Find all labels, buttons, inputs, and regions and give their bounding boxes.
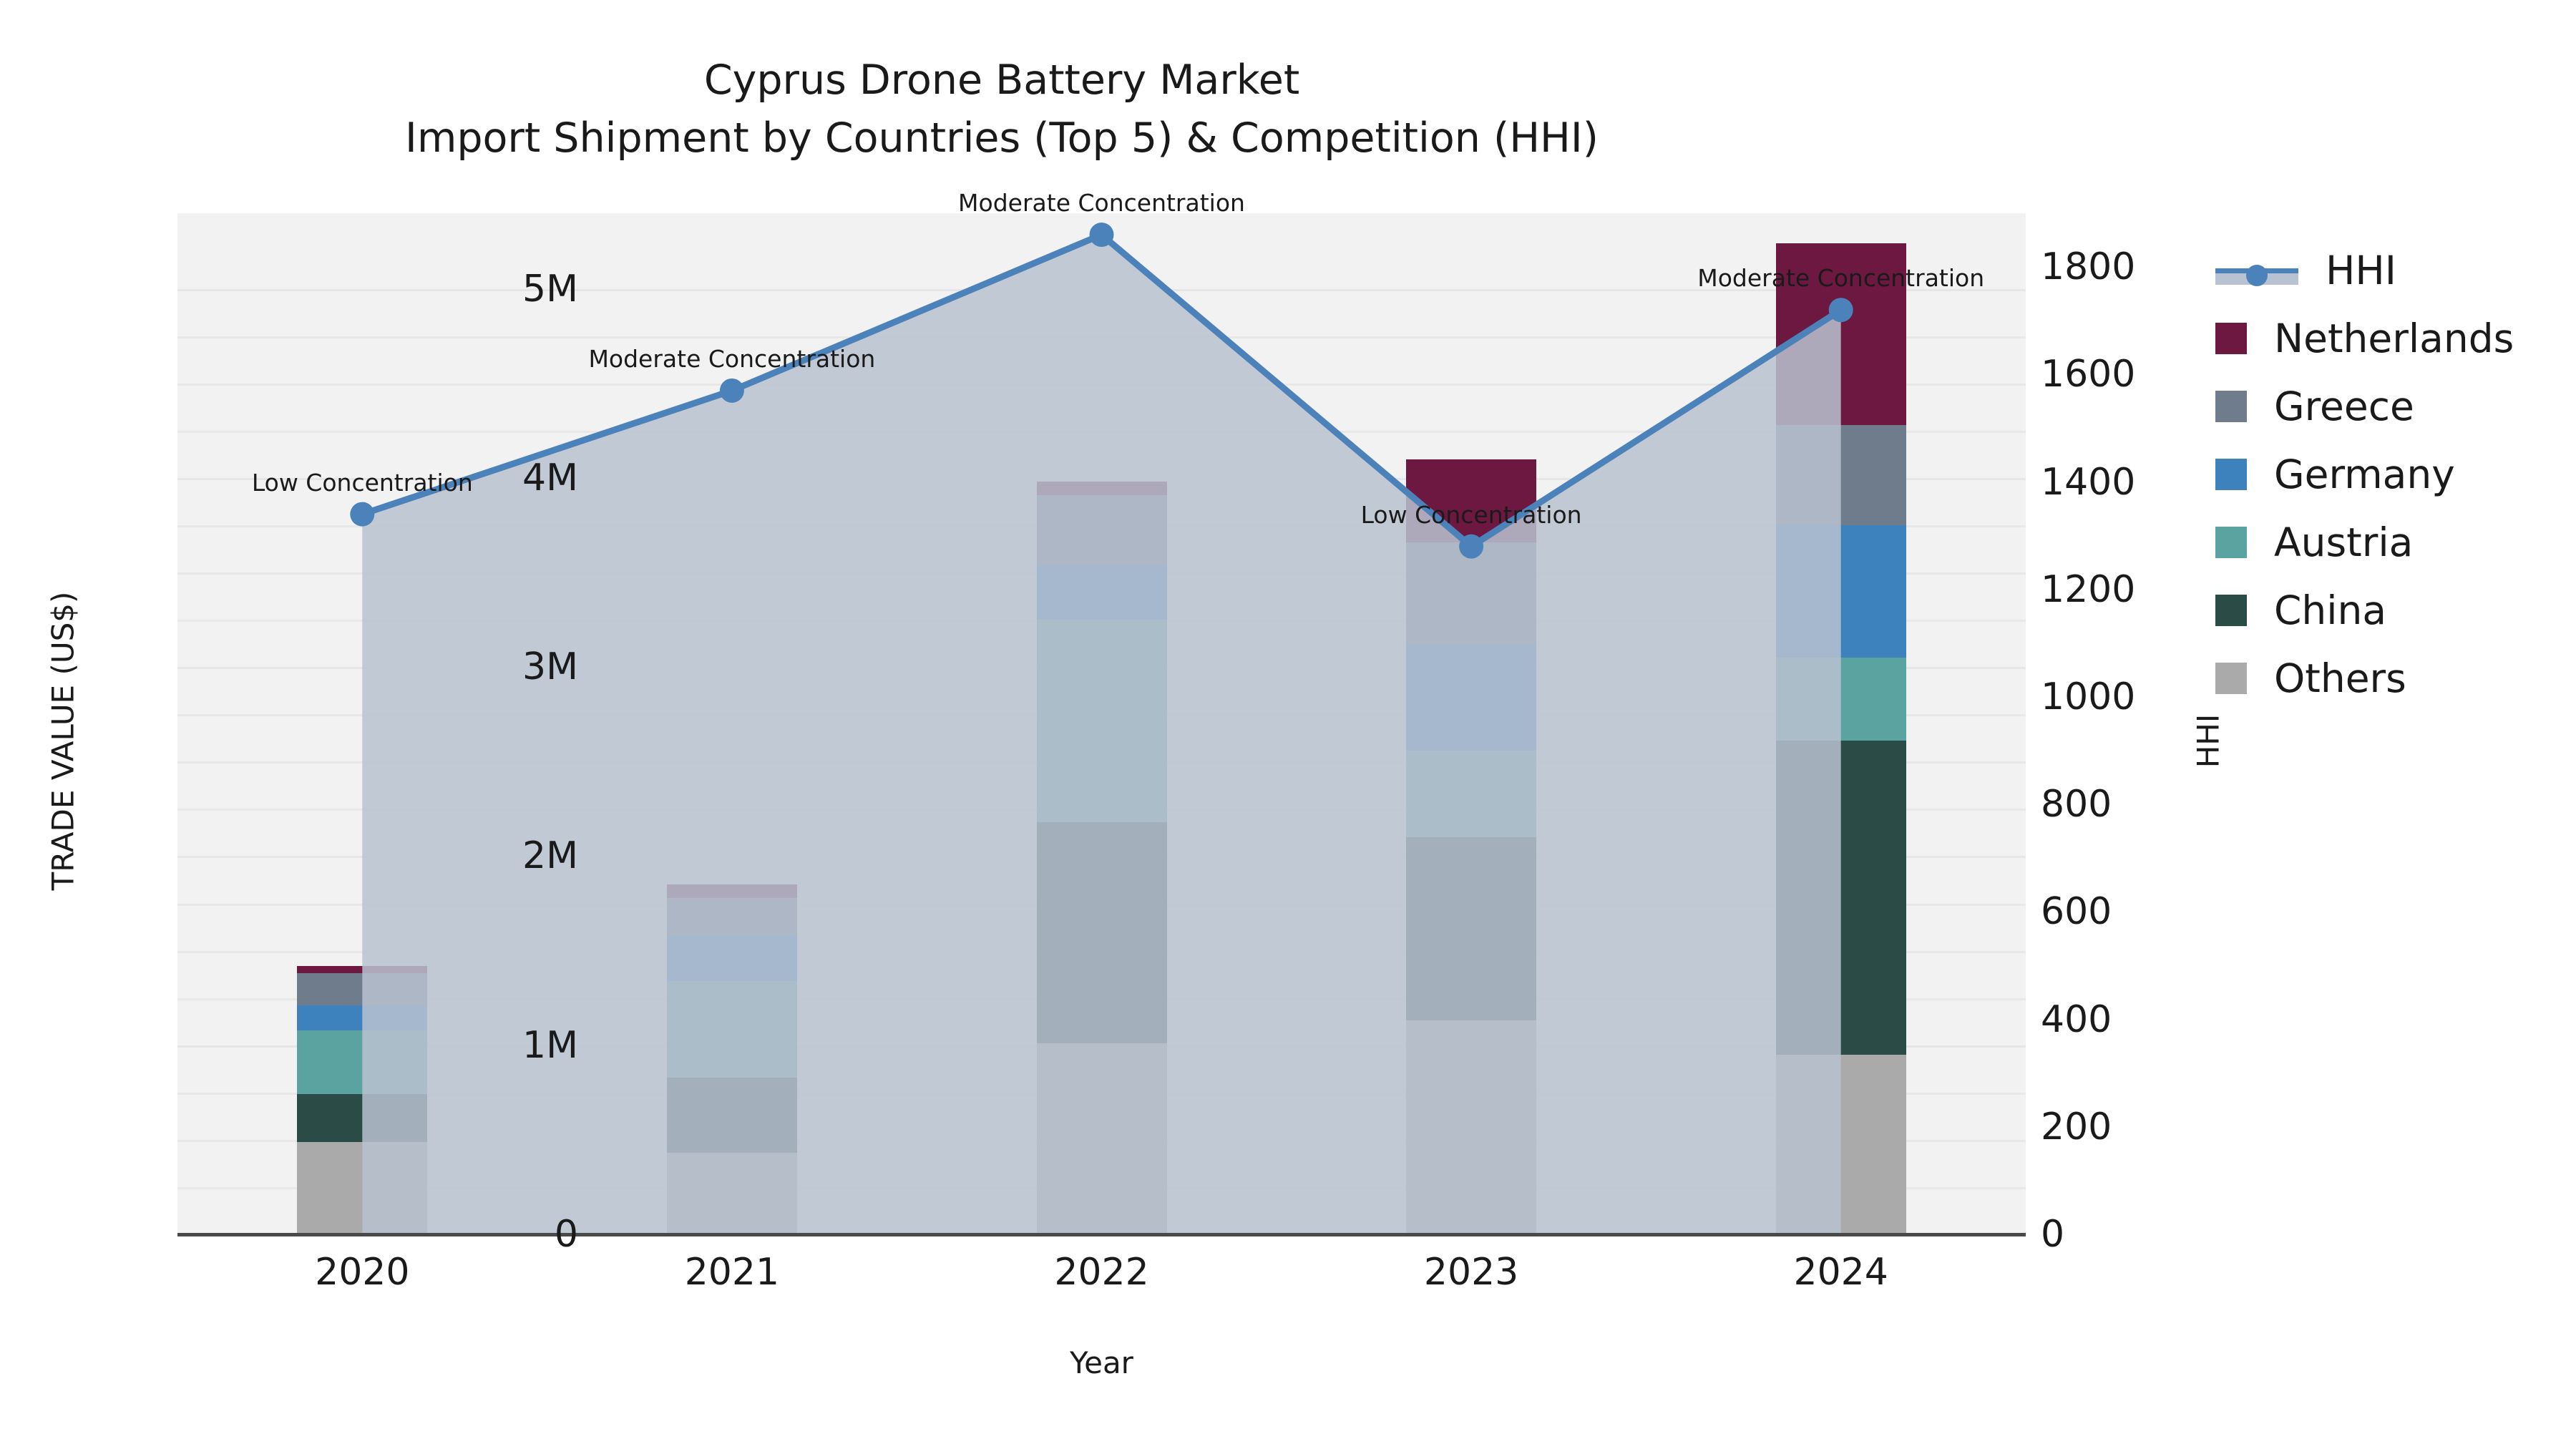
y-right-tick-1600: 1600 xyxy=(2041,353,2135,396)
legend-label-austria: Austria xyxy=(2274,519,2413,565)
legend-label-germany: Germany xyxy=(2274,452,2455,497)
y-left-tick-5M: 5M xyxy=(522,268,578,311)
legend-line-marker-icon xyxy=(2215,255,2298,286)
y-left-tick-0: 0 xyxy=(555,1213,578,1256)
y-left-tick-2M: 2M xyxy=(522,834,578,877)
chart-figure: Cyprus Drone Battery Market Import Shipm… xyxy=(0,0,2576,1449)
x-tick-2024[interactable]: 2024 xyxy=(1794,1251,1888,1294)
hhi-marker-2020[interactable] xyxy=(350,502,374,527)
legend-label-others: Others xyxy=(2274,655,2406,701)
y-right-tick-200: 200 xyxy=(2041,1106,2112,1148)
legend-item-others[interactable]: Others xyxy=(2215,644,2514,712)
y-right-tick-400: 400 xyxy=(2041,998,2112,1041)
legend-item-germany[interactable]: Germany xyxy=(2215,440,2514,508)
legend-swatch-germany xyxy=(2215,459,2247,490)
legend-item-hhi[interactable]: HHI xyxy=(2215,236,2514,304)
y-right-tick-0: 0 xyxy=(2041,1213,2064,1256)
legend-swatch-greece xyxy=(2215,391,2247,422)
annotation-2020: Low Concentration xyxy=(252,469,473,497)
annotation-2021: Moderate Concentration xyxy=(588,345,875,373)
y-right-tick-1400: 1400 xyxy=(2041,461,2135,504)
annotation-2023: Low Concentration xyxy=(1361,501,1582,529)
legend-label-greece: Greece xyxy=(2274,384,2414,429)
y-right-tick-1800: 1800 xyxy=(2041,245,2135,288)
plot-area xyxy=(177,213,2026,1234)
annotation-2024: Moderate Concentration xyxy=(1697,264,1984,292)
annotation-2022: Moderate Concentration xyxy=(958,189,1245,217)
x-tick-2022[interactable]: 2022 xyxy=(1054,1251,1148,1294)
legend-item-china[interactable]: China xyxy=(2215,576,2514,644)
hhi-marker-2022[interactable] xyxy=(1090,223,1114,247)
y-right-tick-800: 800 xyxy=(2041,783,2112,826)
legend-label-netherlands: Netherlands xyxy=(2274,316,2514,361)
y-left-tick-3M: 3M xyxy=(522,645,578,688)
y-right-tick-1200: 1200 xyxy=(2041,568,2135,611)
legend-item-netherlands[interactable]: Netherlands xyxy=(2215,304,2514,372)
hhi-series xyxy=(177,213,2026,1234)
y-axis-left-title: TRADE VALUE (US$) xyxy=(46,491,81,992)
legend-swatch-netherlands xyxy=(2215,323,2247,354)
hhi-marker-2021[interactable] xyxy=(720,379,744,403)
x-tick-2021[interactable]: 2021 xyxy=(685,1251,779,1294)
y-right-tick-1000: 1000 xyxy=(2041,675,2135,718)
x-tick-2020[interactable]: 2020 xyxy=(315,1251,409,1294)
y-right-tick-600: 600 xyxy=(2041,890,2112,933)
chart-title: Cyprus Drone Battery Market Import Shipm… xyxy=(0,52,2004,167)
legend-swatch-others xyxy=(2215,663,2247,694)
legend-item-greece[interactable]: Greece xyxy=(2215,372,2514,440)
chart-title-line1: Cyprus Drone Battery Market xyxy=(0,52,2004,109)
hhi-area-fill xyxy=(362,235,1840,1234)
x-tick-2023[interactable]: 2023 xyxy=(1424,1251,1518,1294)
legend-swatch-austria xyxy=(2215,527,2247,558)
x-axis-line xyxy=(177,1233,2026,1236)
legend-item-austria[interactable]: Austria xyxy=(2215,508,2514,576)
y-left-tick-4M: 4M xyxy=(522,457,578,499)
hhi-marker-2023[interactable] xyxy=(1459,535,1483,559)
legend-label-china: China xyxy=(2274,587,2386,633)
chart-legend: HHINetherlandsGreeceGermanyAustriaChinaO… xyxy=(2215,236,2514,712)
y-left-tick-1M: 1M xyxy=(522,1024,578,1067)
chart-title-line2: Import Shipment by Countries (Top 5) & C… xyxy=(0,109,2004,167)
hhi-marker-2024[interactable] xyxy=(1829,298,1853,322)
legend-swatch-china xyxy=(2215,595,2247,626)
legend-label-hhi: HHI xyxy=(2326,248,2396,293)
legend-line-dot xyxy=(2246,265,2268,286)
x-axis-title: Year xyxy=(177,1345,2026,1380)
